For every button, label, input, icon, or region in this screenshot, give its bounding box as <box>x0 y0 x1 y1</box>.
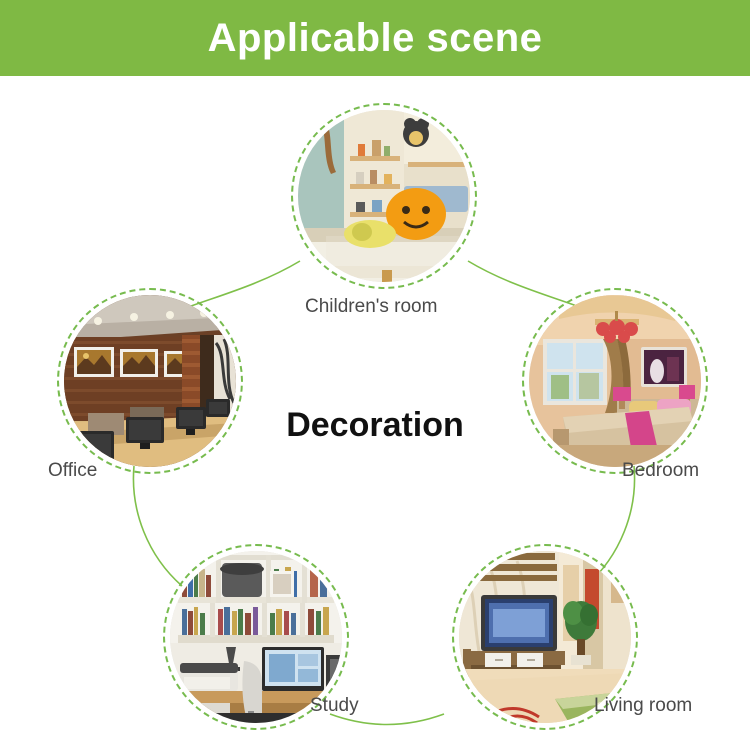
header-banner: Applicable scene <box>0 0 750 76</box>
applicable-scene-infographic: Applicable scene Decoration <box>0 0 750 750</box>
scene-diagram: Decoration <box>0 76 750 750</box>
scene-node-office[interactable] <box>57 288 243 474</box>
scene-node-children-room[interactable] <box>291 103 477 289</box>
scene-ring-bedroom <box>522 288 708 474</box>
scene-ring-children-room <box>291 103 477 289</box>
scene-label-children-room: Children's room <box>305 297 437 316</box>
scene-label-living-room: Living room <box>594 696 692 715</box>
scene-label-bedroom: Bedroom <box>622 461 699 480</box>
scene-label-study: Study <box>310 696 359 715</box>
scene-ring-office <box>57 288 243 474</box>
page-title: Applicable scene <box>208 18 543 58</box>
scene-label-office: Office <box>48 461 97 480</box>
scene-node-bedroom[interactable] <box>522 288 708 474</box>
